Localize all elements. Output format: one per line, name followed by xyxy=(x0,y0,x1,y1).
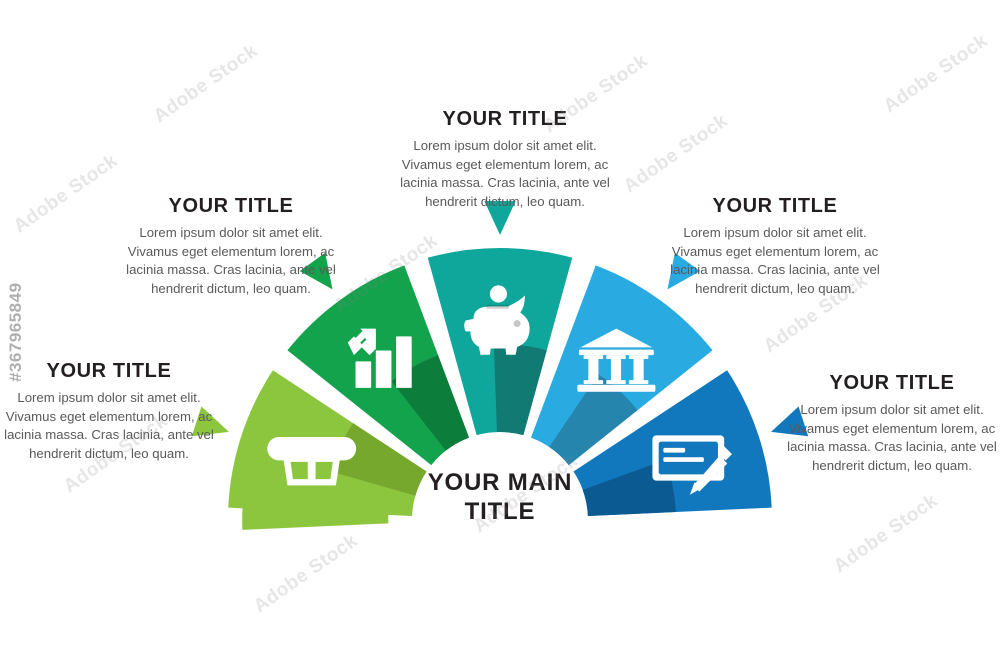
callout-body: Lorem ipsum dolor sit amet elit. Vivamus… xyxy=(2,389,216,464)
callout-body: Lorem ipsum dolor sit amet elit. Vivamus… xyxy=(662,224,888,299)
callout-segment-4: YOUR TITLE Lorem ipsum dolor sit amet el… xyxy=(662,195,888,299)
callout-title: YOUR TITLE xyxy=(392,108,618,131)
callout-segment-3: YOUR TITLE Lorem ipsum dolor sit amet el… xyxy=(392,108,618,212)
callout-body: Lorem ipsum dolor sit amet elit. Vivamus… xyxy=(118,224,344,299)
callout-segment-2: YOUR TITLE Lorem ipsum dolor sit amet el… xyxy=(118,195,344,299)
callout-title: YOUR TITLE xyxy=(118,195,344,218)
main-title-line-2: TITLE xyxy=(380,497,620,526)
callout-title: YOUR TITLE xyxy=(786,372,998,395)
callout-segment-1: YOUR TITLE Lorem ipsum dolor sit amet el… xyxy=(2,360,216,464)
callout-segment-5: YOUR TITLE Lorem ipsum dolor sit amet el… xyxy=(786,372,998,476)
callout-title: YOUR TITLE xyxy=(2,360,216,383)
main-title-line-1: YOUR MAIN xyxy=(380,468,620,497)
callout-body: Lorem ipsum dolor sit amet elit. Vivamus… xyxy=(786,401,998,476)
infographic-canvas: YOUR TITLE Lorem ipsum dolor sit amet el… xyxy=(0,0,1000,667)
main-title: YOUR MAIN TITLE xyxy=(380,468,620,527)
callout-body: Lorem ipsum dolor sit amet elit. Vivamus… xyxy=(392,137,618,212)
callout-title: YOUR TITLE xyxy=(662,195,888,218)
semicircle-wheel xyxy=(0,0,1000,667)
